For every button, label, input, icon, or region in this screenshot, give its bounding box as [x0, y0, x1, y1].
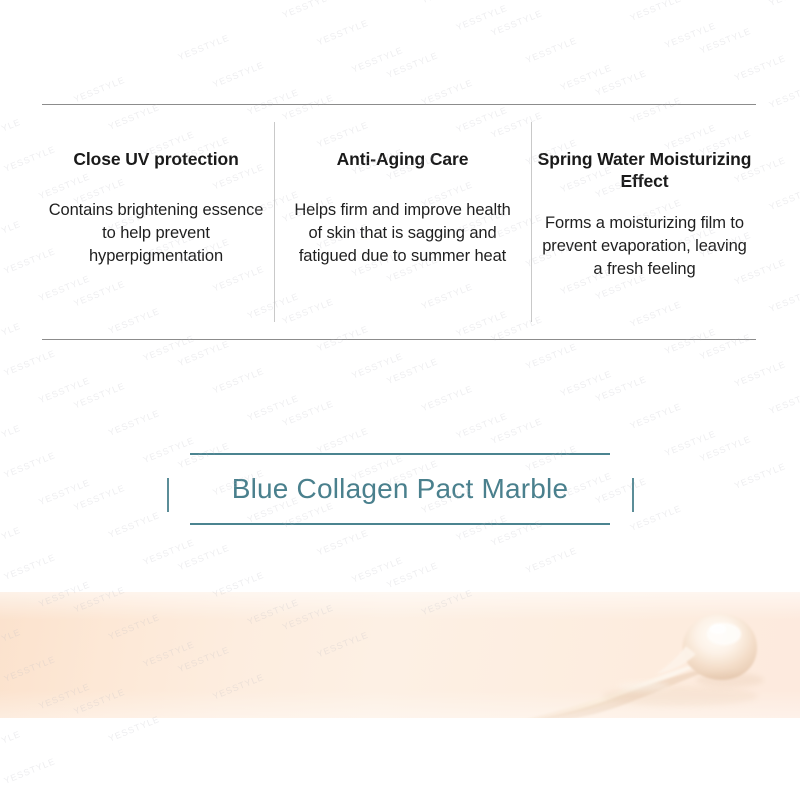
- title-bracket-left: [167, 478, 169, 512]
- feature-heading: Anti-Aging Care: [286, 148, 519, 170]
- feature-body-text: Helps firm and improve health of skin th…: [286, 199, 519, 268]
- feature-table: Close UV protection Contains brightening…: [42, 104, 756, 340]
- feature-column-anti-aging: Anti-Aging Care Helps firm and improve h…: [274, 104, 531, 340]
- feature-heading: Spring Water Moisturizing Effect: [537, 148, 752, 192]
- feature-body-text: Contains brightening essence to help pre…: [48, 199, 264, 268]
- product-image-banner: [0, 592, 800, 718]
- product-detail-page: Close UV protection Contains brightening…: [0, 0, 800, 800]
- title-bracket-right: [632, 478, 634, 512]
- title-rule-bottom: [190, 523, 610, 525]
- feature-column-moisturizing: Spring Water Moisturizing Effect Forms a…: [531, 104, 756, 340]
- product-title: Blue Collagen Pact Marble: [190, 455, 610, 523]
- feature-columns: Close UV protection Contains brightening…: [42, 104, 756, 340]
- cream-texture-swoosh: [430, 592, 800, 718]
- product-title-band: Blue Collagen Pact Marble: [0, 440, 800, 540]
- feature-heading: Close UV protection: [48, 148, 264, 170]
- feature-column-uv-protection: Close UV protection Contains brightening…: [42, 104, 274, 340]
- feature-body-text: Forms a moisturizing film to prevent eva…: [537, 212, 752, 281]
